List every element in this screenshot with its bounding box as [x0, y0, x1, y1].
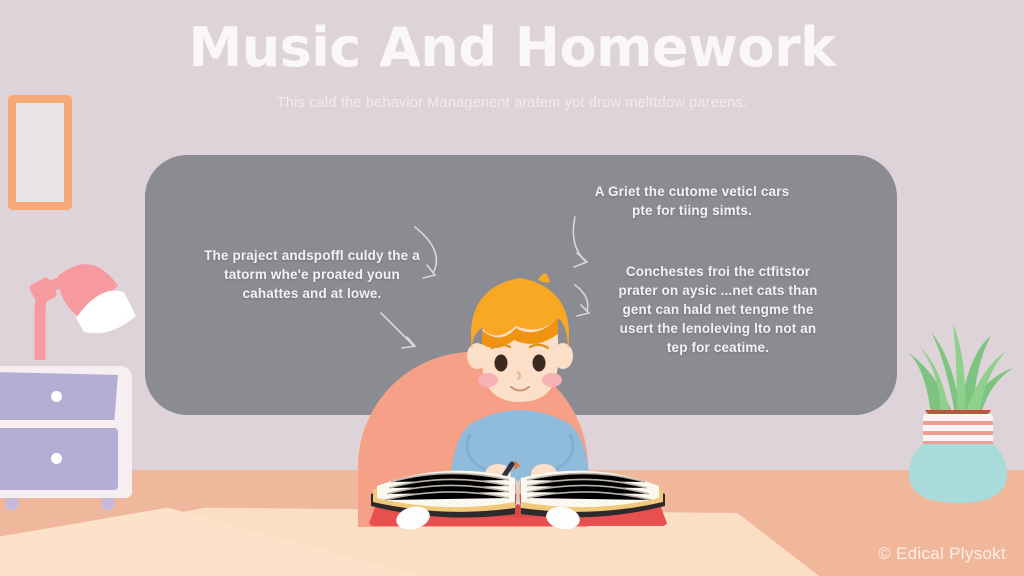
watermark-credit: © Edical Plysokt	[878, 544, 1006, 564]
desk-lamp-icon	[14, 240, 144, 360]
card-text-bottom-right: Conchestes froi the ctfitstor prater on …	[612, 262, 824, 357]
room-scene: The praject andspoffl culdy the a tatorm…	[0, 0, 1024, 576]
page-title: Music And Homework	[0, 16, 1024, 79]
page-subtitle: This cald the behavior Managenent aratem…	[0, 95, 1024, 111]
picture-frame-icon	[8, 95, 72, 210]
card-text-left: The praject andspoffl culdy the a tatorm…	[196, 246, 428, 303]
nightstand-icon	[0, 358, 140, 518]
potted-plant-icon	[895, 318, 1020, 503]
card-text-top-right: A Griet the cutome veticl cars pte for t…	[592, 182, 792, 220]
open-book-illustration	[363, 440, 673, 530]
